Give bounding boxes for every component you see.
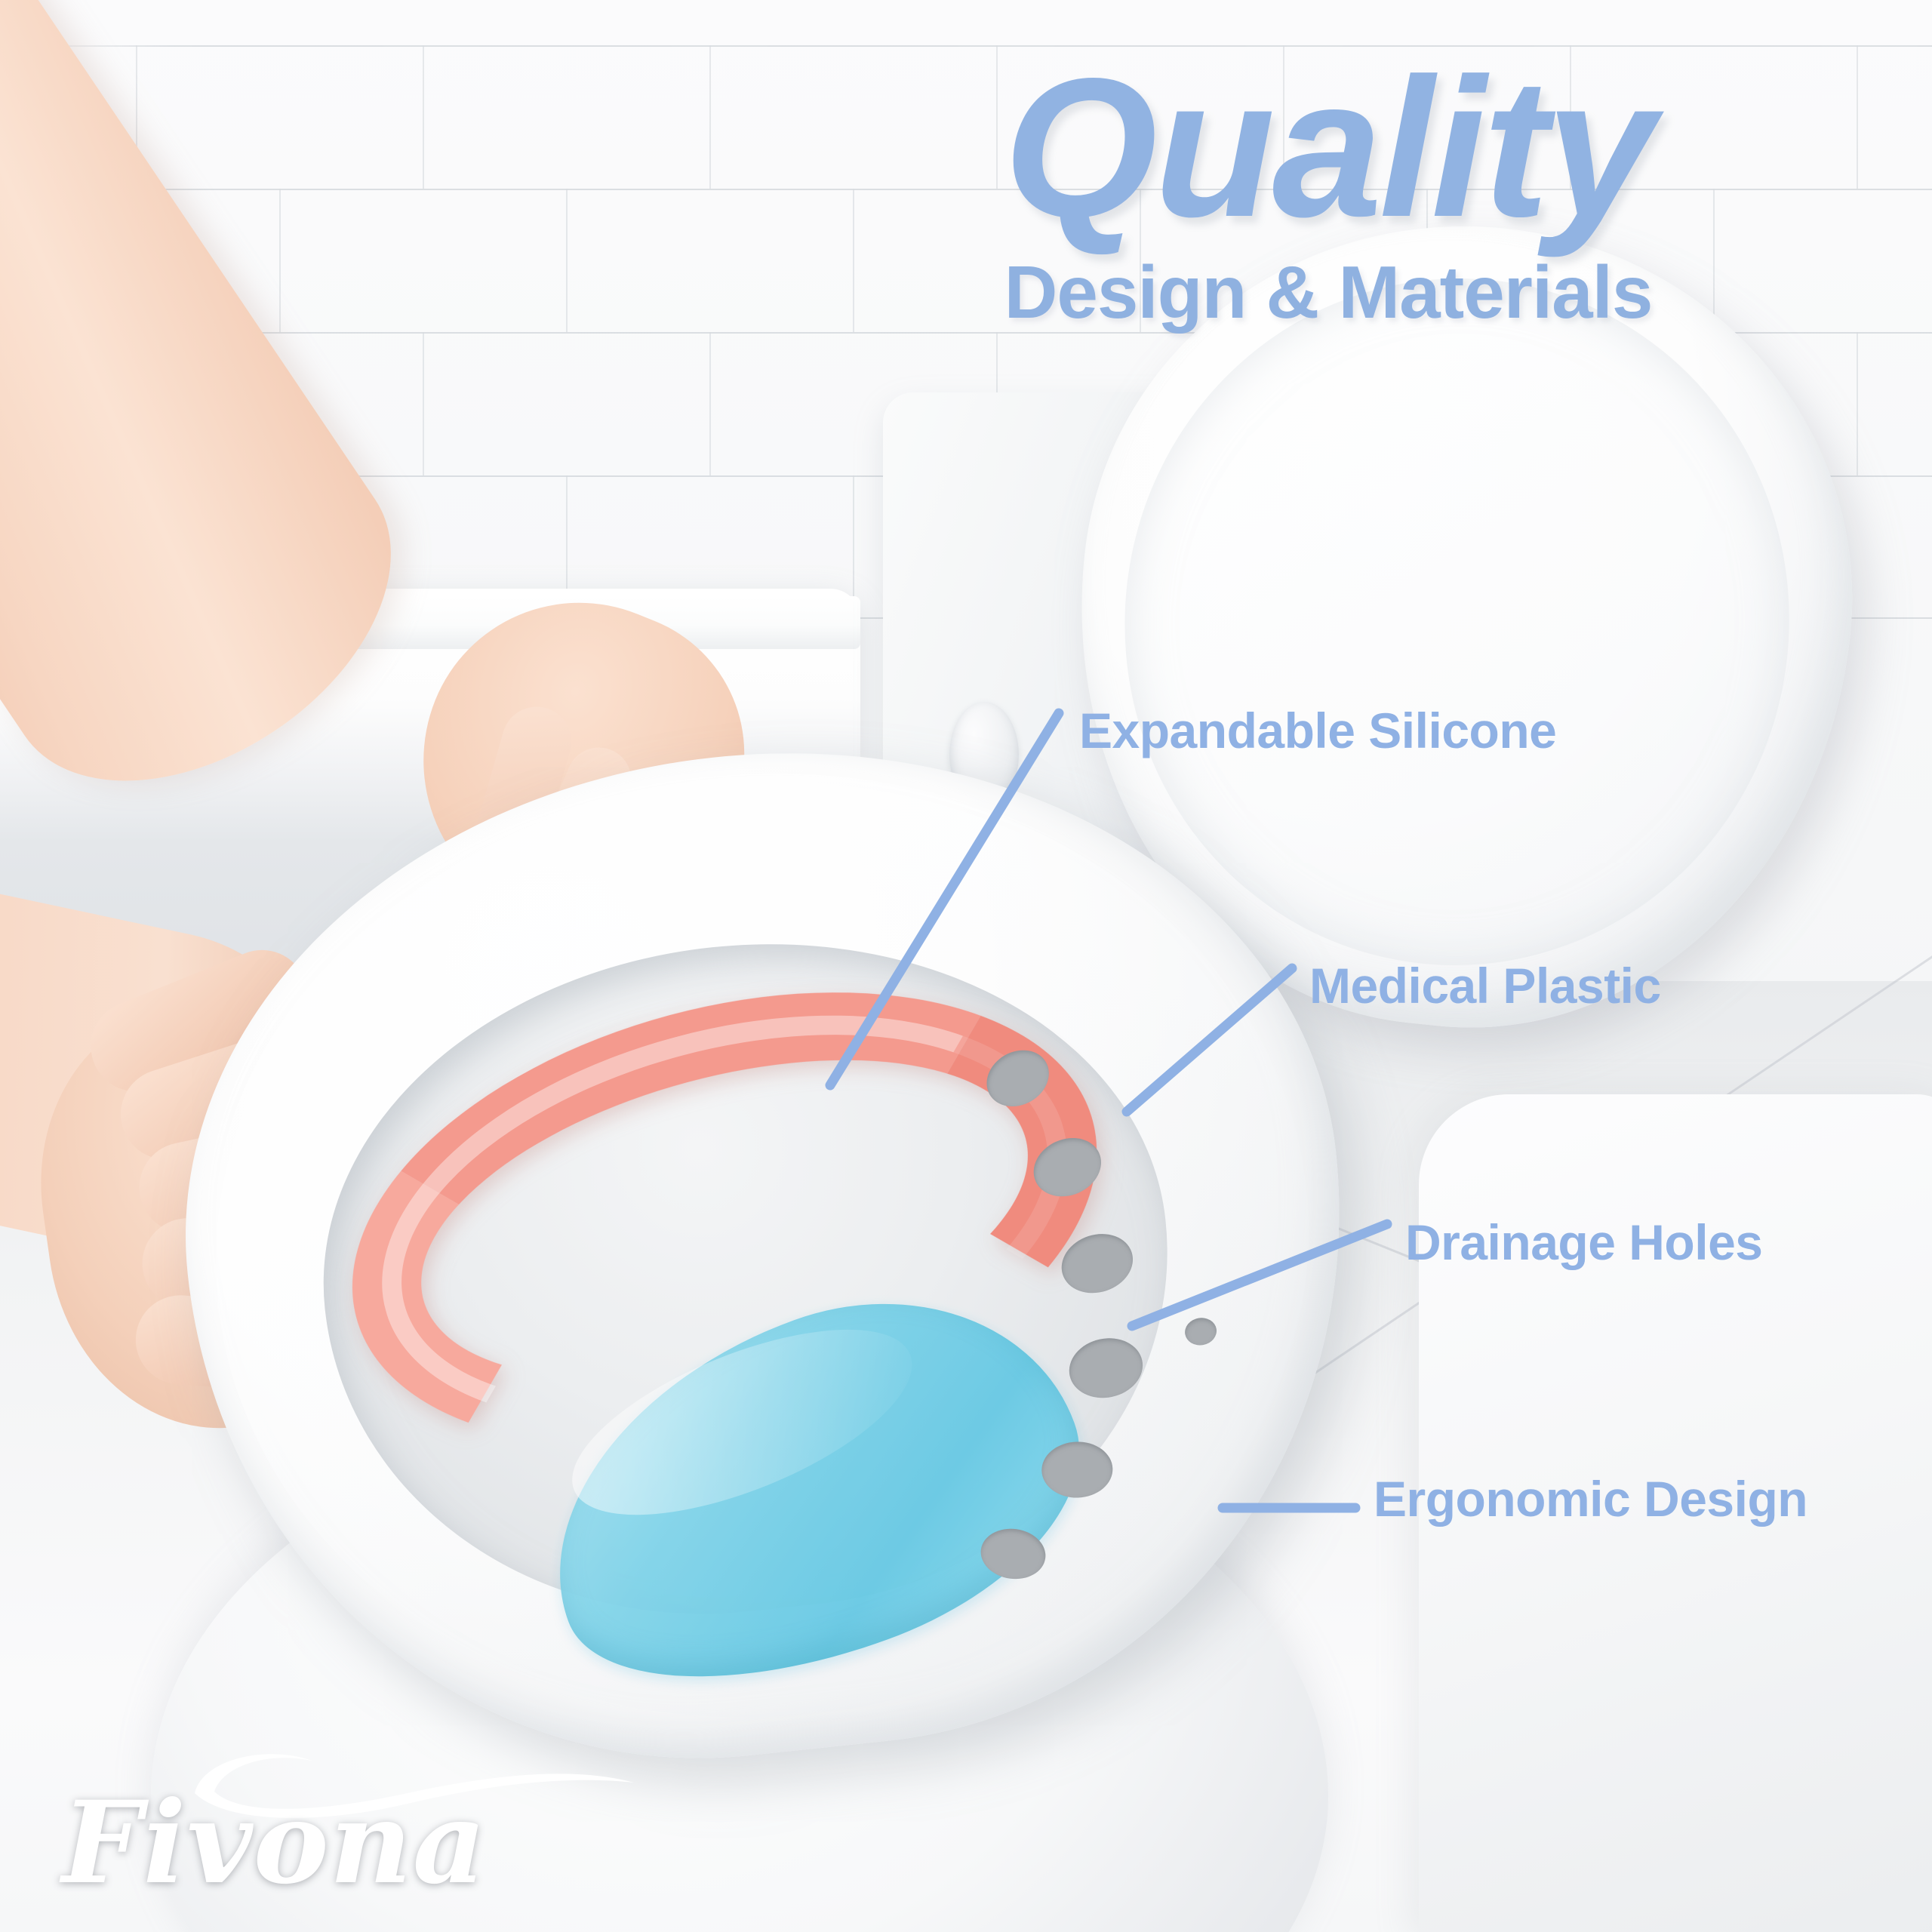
callout-label-medical-plastic: Medical Plastic [1309,957,1661,1014]
brand-logo: Fivona [45,1743,513,1917]
callout-label-expandable-silicone: Expandable Silicone [1079,702,1556,759]
product-infographic: Quality Design & Materials Expandable Si… [0,0,1932,1932]
callout-label-drainage-holes: Drainage Holes [1405,1214,1763,1271]
brand-name: Fivona [62,1777,487,1909]
sitz-bath-basin [140,697,1392,1809]
callout-label-ergonomic-design: Ergonomic Design [1374,1470,1807,1527]
